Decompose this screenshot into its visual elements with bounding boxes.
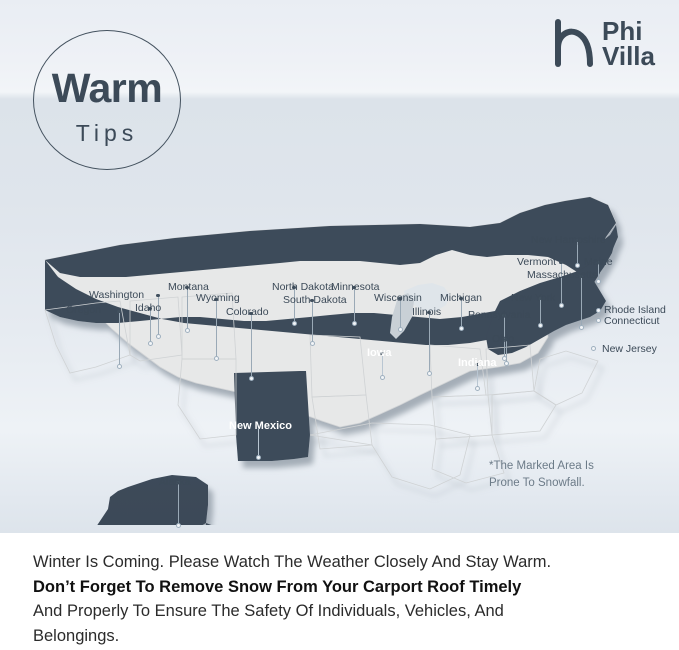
state-label-minnesota: Minnesota	[331, 282, 379, 293]
map-marker-dot[interactable]	[292, 321, 297, 326]
state-label-ohio: Ohio	[492, 334, 514, 345]
advisory-line-1: Winter Is Coming. Please Watch The Weath…	[33, 550, 653, 575]
map-marker-dot[interactable]	[380, 375, 385, 380]
state-label-indiana: Indiana	[458, 358, 497, 369]
warm-tips-infographic: Warm Tips Phi Villa	[0, 0, 679, 650]
map-marker-dot[interactable]	[249, 376, 254, 381]
state-label-rhode-island: Rhode Island	[604, 305, 666, 316]
map-marker-dot[interactable]	[575, 263, 580, 268]
brand-logo: Phi Villa	[552, 18, 655, 70]
state-label-alaska: Alaska	[159, 477, 191, 488]
map-marker-dot[interactable]	[504, 361, 509, 366]
leader-line	[429, 313, 430, 373]
state-label-connecticut: Connecticut	[604, 316, 659, 327]
map-marker-dot[interactable]	[579, 325, 584, 330]
state-label-massachusetts: Massachusetts	[527, 270, 597, 281]
map-marker-dot[interactable]	[427, 371, 432, 376]
brand-name-line2: Villa	[602, 44, 655, 69]
advisory-line-3: And Properly To Ensure The Safety Of Ind…	[33, 599, 653, 624]
map-marker-dot[interactable]	[398, 327, 403, 332]
state-label-north-dakota: North Dakota	[272, 282, 334, 293]
state-label-new-york: New York	[511, 293, 555, 304]
state-label-oregon: Oregon	[66, 305, 101, 316]
state-label-vermont: Vermont	[517, 257, 556, 268]
map-marker-dot[interactable]	[591, 346, 596, 351]
state-label-montana: Montana	[168, 282, 209, 293]
state-label-new-jersey: New Jersey	[602, 344, 657, 355]
map-marker-dot[interactable]	[185, 328, 190, 333]
state-label-michigan: Michigan	[440, 293, 482, 304]
map-marker-dot[interactable]	[352, 321, 357, 326]
state-label-illinois: Illinois	[412, 307, 441, 318]
state-label-south-dakota: South Dakota	[283, 295, 347, 306]
map-footnote: *The Marked Area Is Prone To Snowfall.	[489, 458, 594, 492]
leader-line	[354, 288, 355, 323]
state-label-pennsylvania: Pennsylvania	[468, 310, 530, 321]
leader-line	[258, 428, 259, 457]
state-label-new-mexico: New Mexico	[229, 421, 292, 432]
state-label-wyoming: Wyoming	[196, 293, 240, 304]
leader-line	[312, 301, 313, 343]
state-label-colorado: Colorado	[226, 307, 269, 318]
leader-line	[251, 314, 252, 378]
leader-line	[216, 300, 217, 358]
state-label-maine: Maine	[584, 257, 613, 268]
advisory-line-4: Belongings.	[33, 624, 653, 649]
map-marker-dot[interactable]	[148, 341, 153, 346]
map-marker-dot[interactable]	[214, 356, 219, 361]
state-label-idaho: Idaho	[135, 303, 161, 314]
advisory-line-2: Don’t Forget To Remove Snow From Your Ca…	[33, 575, 653, 600]
map-marker-dot[interactable]	[117, 364, 122, 369]
alaska-panhandle	[206, 523, 262, 525]
leader-line	[150, 309, 151, 343]
badge-title: Warm	[33, 68, 181, 109]
map-marker-dot[interactable]	[475, 386, 480, 391]
leader-line	[581, 277, 582, 327]
state-label-iowa: Iowa	[367, 348, 391, 359]
leader-line	[187, 288, 188, 330]
map-marker-dot[interactable]	[596, 318, 601, 323]
map-marker-dot[interactable]	[538, 323, 543, 328]
brand-name: Phi Villa	[602, 19, 655, 69]
map-marker-dot[interactable]	[459, 326, 464, 331]
map-marker-dot[interactable]	[156, 334, 161, 339]
map-marker-dot[interactable]	[596, 279, 601, 284]
leader-line	[178, 483, 179, 525]
leader-line	[119, 312, 120, 366]
map-marker-dot[interactable]	[176, 523, 181, 528]
map-marker-dot[interactable]	[256, 455, 261, 460]
highlight-new-mexico	[234, 371, 310, 461]
map-banner: Warm Tips Phi Villa	[0, 0, 679, 533]
advisory-copy: Winter Is Coming. Please Watch The Weath…	[33, 550, 653, 648]
state-label-wisconsin: Wisconsin	[374, 293, 422, 304]
map-marker-dot[interactable]	[559, 303, 564, 308]
map-marker-dot[interactable]	[596, 308, 601, 313]
state-label-new-hampshire: New Hampshire	[531, 235, 606, 246]
state-label-washington: Washington	[89, 290, 144, 301]
map-marker-dot[interactable]	[310, 341, 315, 346]
phivilla-arch-icon	[552, 18, 596, 70]
